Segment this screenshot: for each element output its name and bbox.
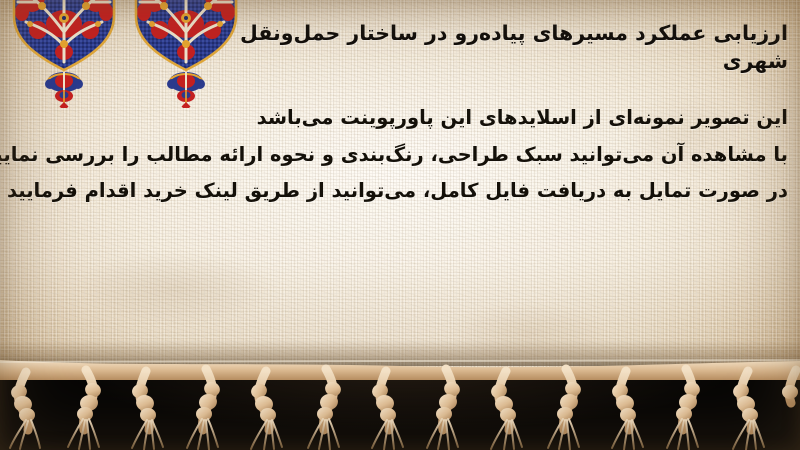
body-line-1: این تصویر نمونه‌ای از اسلایدهای این پاور… bbox=[8, 108, 788, 128]
carpet-fringe bbox=[0, 358, 800, 450]
body-line-3: در صورت تمایل به دریافت فایل کامل، می‌تو… bbox=[8, 181, 788, 201]
page-title: ارزیابی عملکرد مسیرهای پیاده‌رو در ساختا… bbox=[0, 20, 788, 75]
body-line-2: با مشاهده آن می‌توانید سبک طراحی، رنگ‌بن… bbox=[8, 145, 788, 165]
presentation-slide: ارزیابی عملکرد مسیرهای پیاده‌رو در ساختا… bbox=[0, 0, 800, 450]
tassel-group-icon bbox=[0, 358, 800, 450]
slide-body-text: این تصویر نمونه‌ای از اسلایدهای این پاور… bbox=[8, 108, 788, 201]
